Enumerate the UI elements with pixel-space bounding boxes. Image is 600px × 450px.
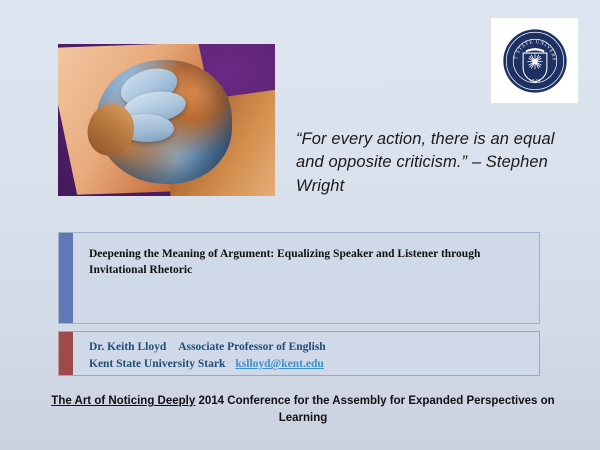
author-panel-accent-bar <box>59 332 73 375</box>
author-email-link[interactable]: kslloyd@kent.edu <box>235 358 323 370</box>
university-logo-box: KENT STATE UNIVERSITY STARK · 1946 · <box>491 18 578 103</box>
kent-state-seal-icon: KENT STATE UNIVERSITY STARK · 1946 · <box>502 28 568 94</box>
footer: The Art of Noticing Deeply 2014 Conferen… <box>38 393 568 426</box>
svg-text:· 1946 ·: · 1946 · <box>525 78 544 83</box>
presentation-title: Deepening the Meaning of Argument: Equal… <box>89 247 525 278</box>
quote-text: “For every action, there is an equal and… <box>296 128 562 198</box>
footer-event-detail: 2014 Conference for the Assembly for Exp… <box>198 395 554 424</box>
presentation-slide: KENT STATE UNIVERSITY STARK · 1946 · <box>0 0 600 450</box>
author-role: Associate Professor of English <box>178 341 325 353</box>
title-panel: Deepening the Meaning of Argument: Equal… <box>58 232 540 324</box>
author-details: Dr. Keith LloydAssociate Professor of En… <box>89 339 529 374</box>
globe-hands-photo <box>58 44 275 196</box>
author-name: Dr. Keith Lloyd <box>89 341 166 353</box>
author-institution: Kent State University Stark <box>89 358 225 370</box>
title-panel-accent-bar <box>59 233 73 323</box>
author-panel: Dr. Keith LloydAssociate Professor of En… <box>58 331 540 376</box>
footer-event-title: The Art of Noticing Deeply <box>51 395 195 407</box>
